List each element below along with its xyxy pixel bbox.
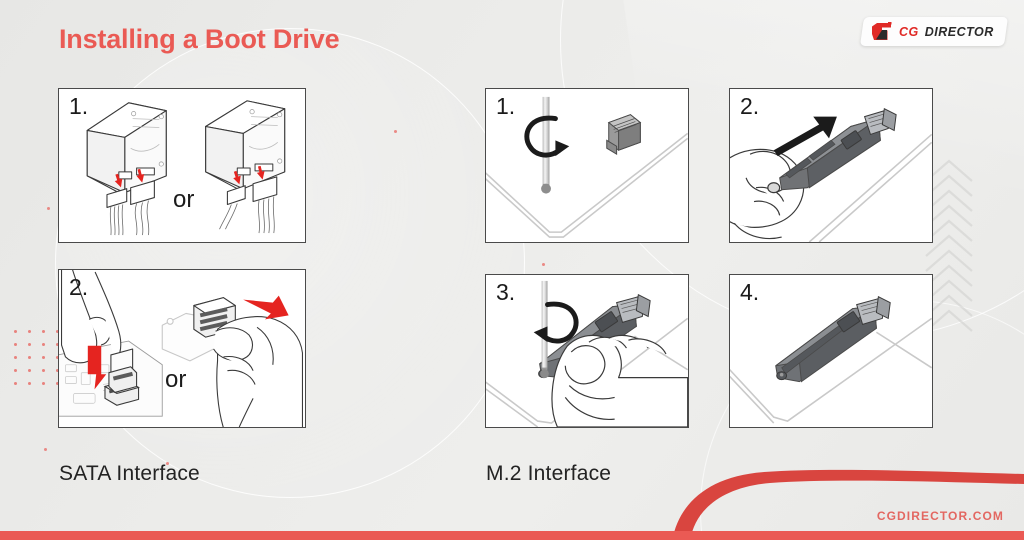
m2-step-2-panel: 2. [729,88,933,243]
step-number: 1. [69,93,88,120]
accent-dot [394,130,397,133]
m2-step-1-illustration [486,89,688,242]
step-number: 3. [496,279,515,306]
m2-step-3-panel: 3. [485,274,689,428]
site-url-label: CGDIRECTOR.COM [877,509,1004,523]
sata-step-2-panel: 2. [58,269,306,428]
logo-text-director: DIRECTOR [925,25,994,39]
slide-canvas: Installing a Boot Drive CG DIRECTOR 1. [0,0,1024,540]
m2-section-caption: M.2 Interface [486,462,611,486]
m2-step-4-panel: 4. [729,274,933,428]
step-number: 2. [69,274,88,301]
cgdirector-g-mark-icon [871,22,893,41]
m2-step-4-illustration [730,275,932,427]
sata-step-1-illustration [59,89,305,242]
or-separator-label: or [173,186,194,214]
accent-dot [542,263,545,266]
sata-section-caption: SATA Interface [59,462,200,486]
page-title: Installing a Boot Drive [59,24,339,55]
m2-step-3-illustration [486,275,688,427]
or-separator-label: or [165,366,186,394]
sata-step-1-panel: 1. [58,88,306,243]
footer-red-bar [0,531,1024,540]
step-number: 4. [740,279,759,306]
footer-swoosh [664,450,1024,540]
step-number: 1. [496,93,515,120]
m2-step-2-illustration [730,89,932,242]
step-number: 2. [740,93,759,120]
cgdirector-logo[interactable]: CG DIRECTOR [860,17,1008,46]
logo-text-cg: CG [899,25,919,39]
sata-step-2-illustration [59,270,305,427]
accent-dot [44,448,47,451]
m2-step-1-panel: 1. [485,88,689,243]
accent-dot [47,207,50,210]
